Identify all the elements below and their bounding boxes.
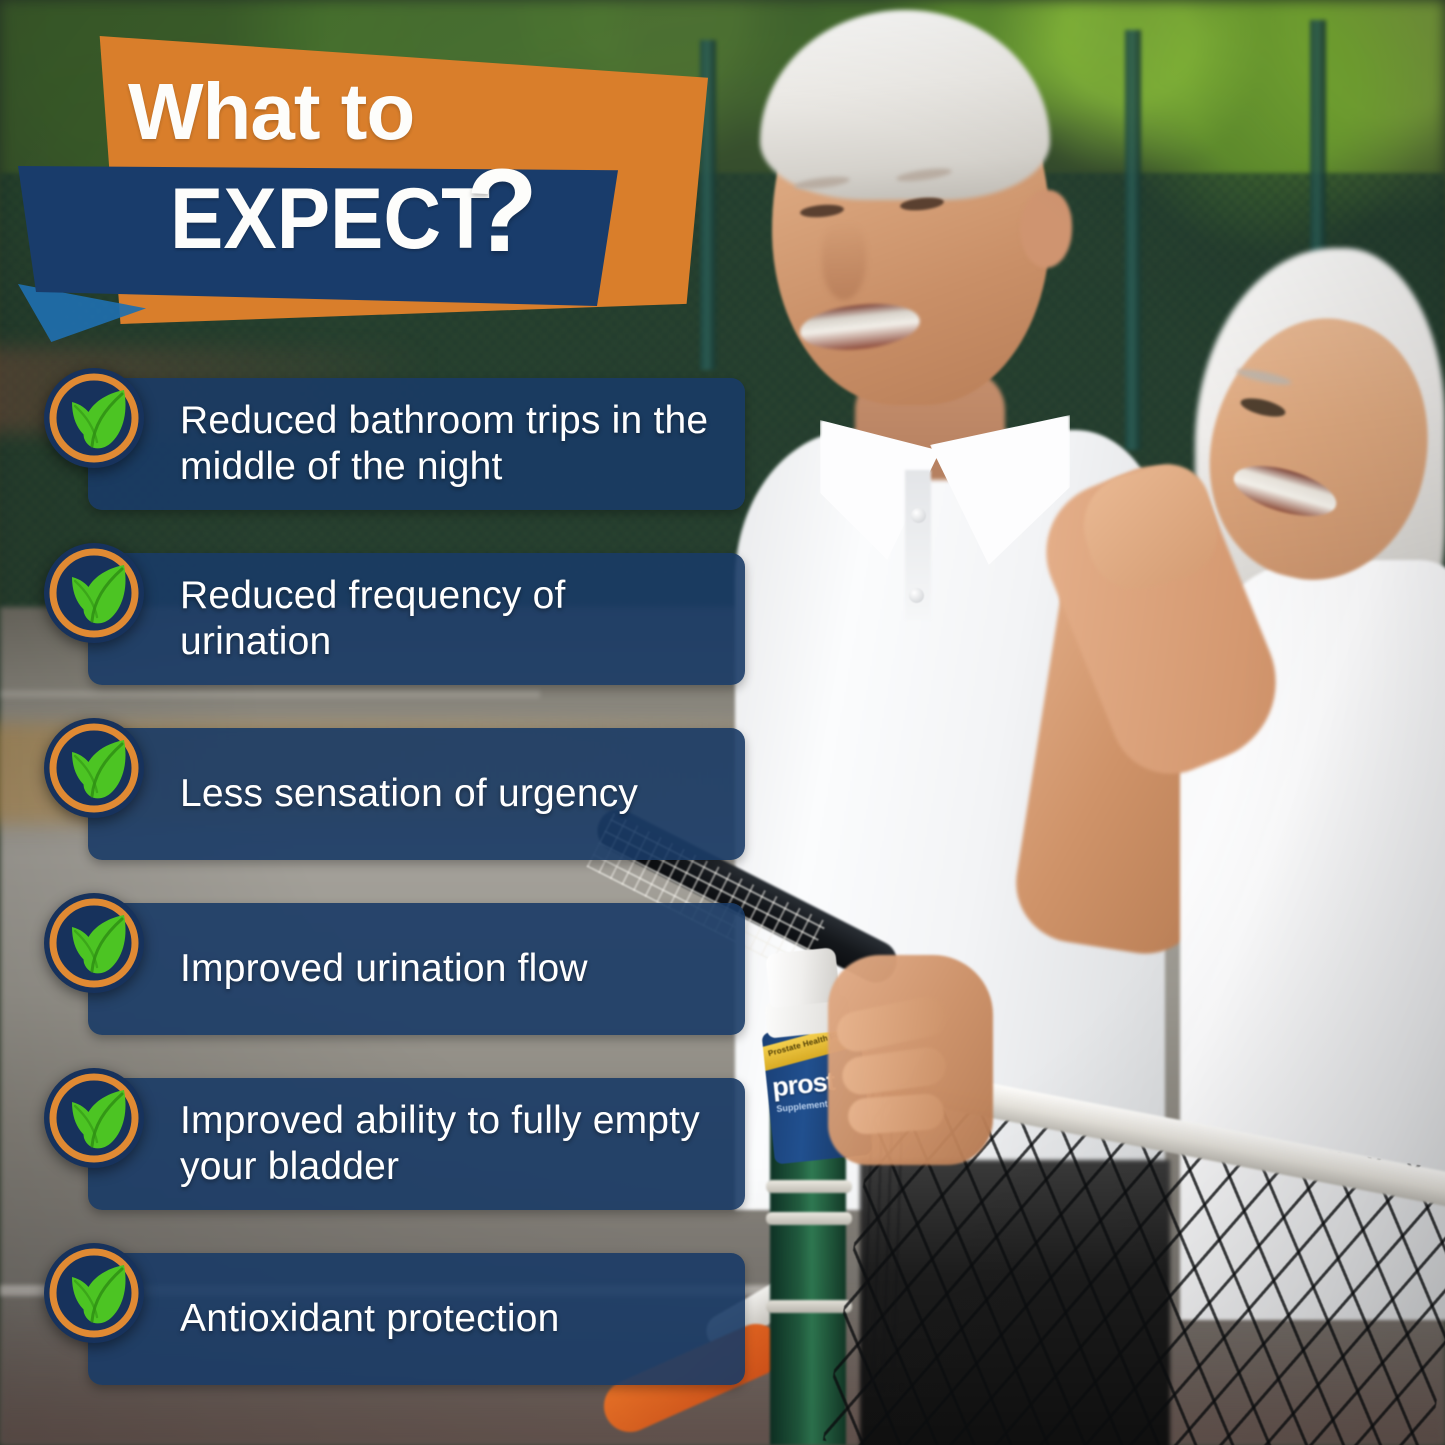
- leaf-badge-icon: [42, 1066, 146, 1170]
- benefit-bar: Antioxidant protection: [88, 1253, 745, 1385]
- header-question-mark: ?: [466, 152, 538, 270]
- benefit-bar: Reduced bathroom trips in the middle of …: [88, 378, 745, 510]
- benefit-bar: Improved urination flow: [88, 903, 745, 1035]
- benefit-label: Improved urination flow: [180, 946, 588, 992]
- benefit-row-6: Antioxidant protection: [0, 1241, 790, 1385]
- benefit-bar: Reduced frequency of urination: [88, 553, 745, 685]
- benefit-label: Antioxidant protection: [180, 1296, 559, 1342]
- benefit-row-2: Reduced frequency of urination: [0, 541, 790, 685]
- benefit-label: Improved ability to fully empty your bla…: [180, 1098, 723, 1190]
- benefit-row-3: Less sensation of urgency: [0, 716, 790, 860]
- benefit-row-4: Improved urination flow: [0, 891, 790, 1035]
- infographic-poster: Prostate Health Formula prost Supplement…: [0, 0, 1445, 1445]
- benefit-label: Reduced frequency of urination: [180, 573, 723, 665]
- header-title-line-2: EXPECT: [170, 176, 490, 262]
- benefit-row-1: Reduced bathroom trips in the middle of …: [0, 366, 790, 510]
- benefit-label: Reduced bathroom trips in the middle of …: [180, 398, 723, 490]
- benefit-bar: Improved ability to fully empty your bla…: [88, 1078, 745, 1210]
- leaf-badge-icon: [42, 1241, 146, 1345]
- benefits-list: Reduced bathroom trips in the middle of …: [0, 366, 790, 1416]
- benefit-label: Less sensation of urgency: [180, 771, 638, 817]
- header-title-line-1: What to: [128, 72, 414, 152]
- benefit-bar: Less sensation of urgency: [88, 728, 745, 860]
- leaf-badge-icon: [42, 891, 146, 995]
- leaf-badge-icon: [42, 366, 146, 470]
- leaf-badge-icon: [42, 541, 146, 645]
- leaf-badge-icon: [42, 716, 146, 820]
- benefit-row-5: Improved ability to fully empty your bla…: [0, 1066, 790, 1210]
- header-banner: What to EXPECT ?: [0, 0, 760, 340]
